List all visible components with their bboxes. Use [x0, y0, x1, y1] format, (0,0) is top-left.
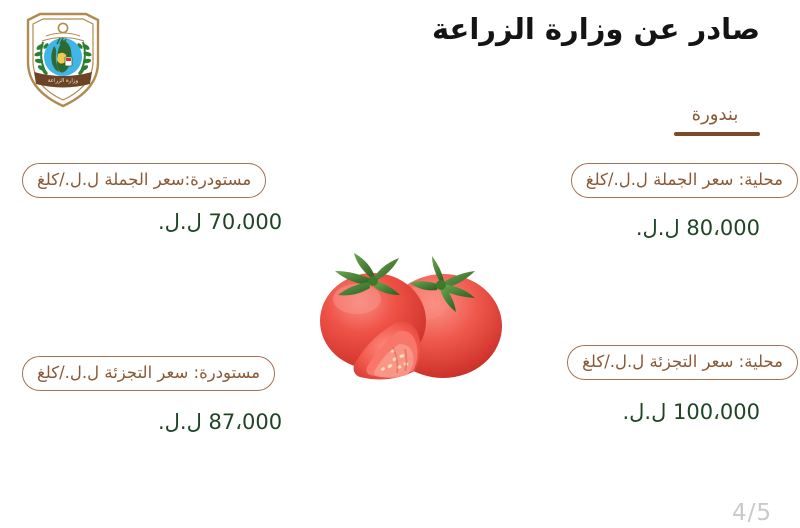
- price-card-page: وزارة الزراعة صادر عن وزارة الزراعة بندو…: [0, 0, 800, 528]
- page-indicator: 4/5: [732, 500, 772, 526]
- label-local-wholesale: محلية: سعر الجملة ل.ل./كلغ: [571, 163, 798, 198]
- product-name: بندورة: [670, 104, 760, 126]
- page-title: صادر عن وزارة الزراعة: [432, 12, 760, 46]
- product-underline: [674, 132, 760, 136]
- value-imported-retail: 87،000 ل.ل.: [158, 410, 282, 434]
- label-local-retail: محلية: سعر التجزئة ل.ل./كلغ: [567, 345, 798, 380]
- label-imported-wholesale: مستودرة:سعر الجملة ل.ل./كلغ: [22, 163, 266, 198]
- emblem-banner-text: وزارة الزراعة: [48, 78, 79, 84]
- ministry-emblem-icon: وزارة الزراعة: [16, 10, 110, 110]
- product-title-block: بندورة: [670, 104, 760, 136]
- tomatoes-illustration: [295, 243, 520, 398]
- label-imported-retail: مستودرة: سعر التجزئة ل.ل./كلغ: [22, 356, 275, 391]
- value-imported-wholesale: 70،000 ل.ل.: [158, 210, 282, 234]
- value-local-wholesale: 80،000 ل.ل.: [636, 216, 760, 240]
- value-local-retail: 100،000 ل.ل.: [623, 400, 761, 424]
